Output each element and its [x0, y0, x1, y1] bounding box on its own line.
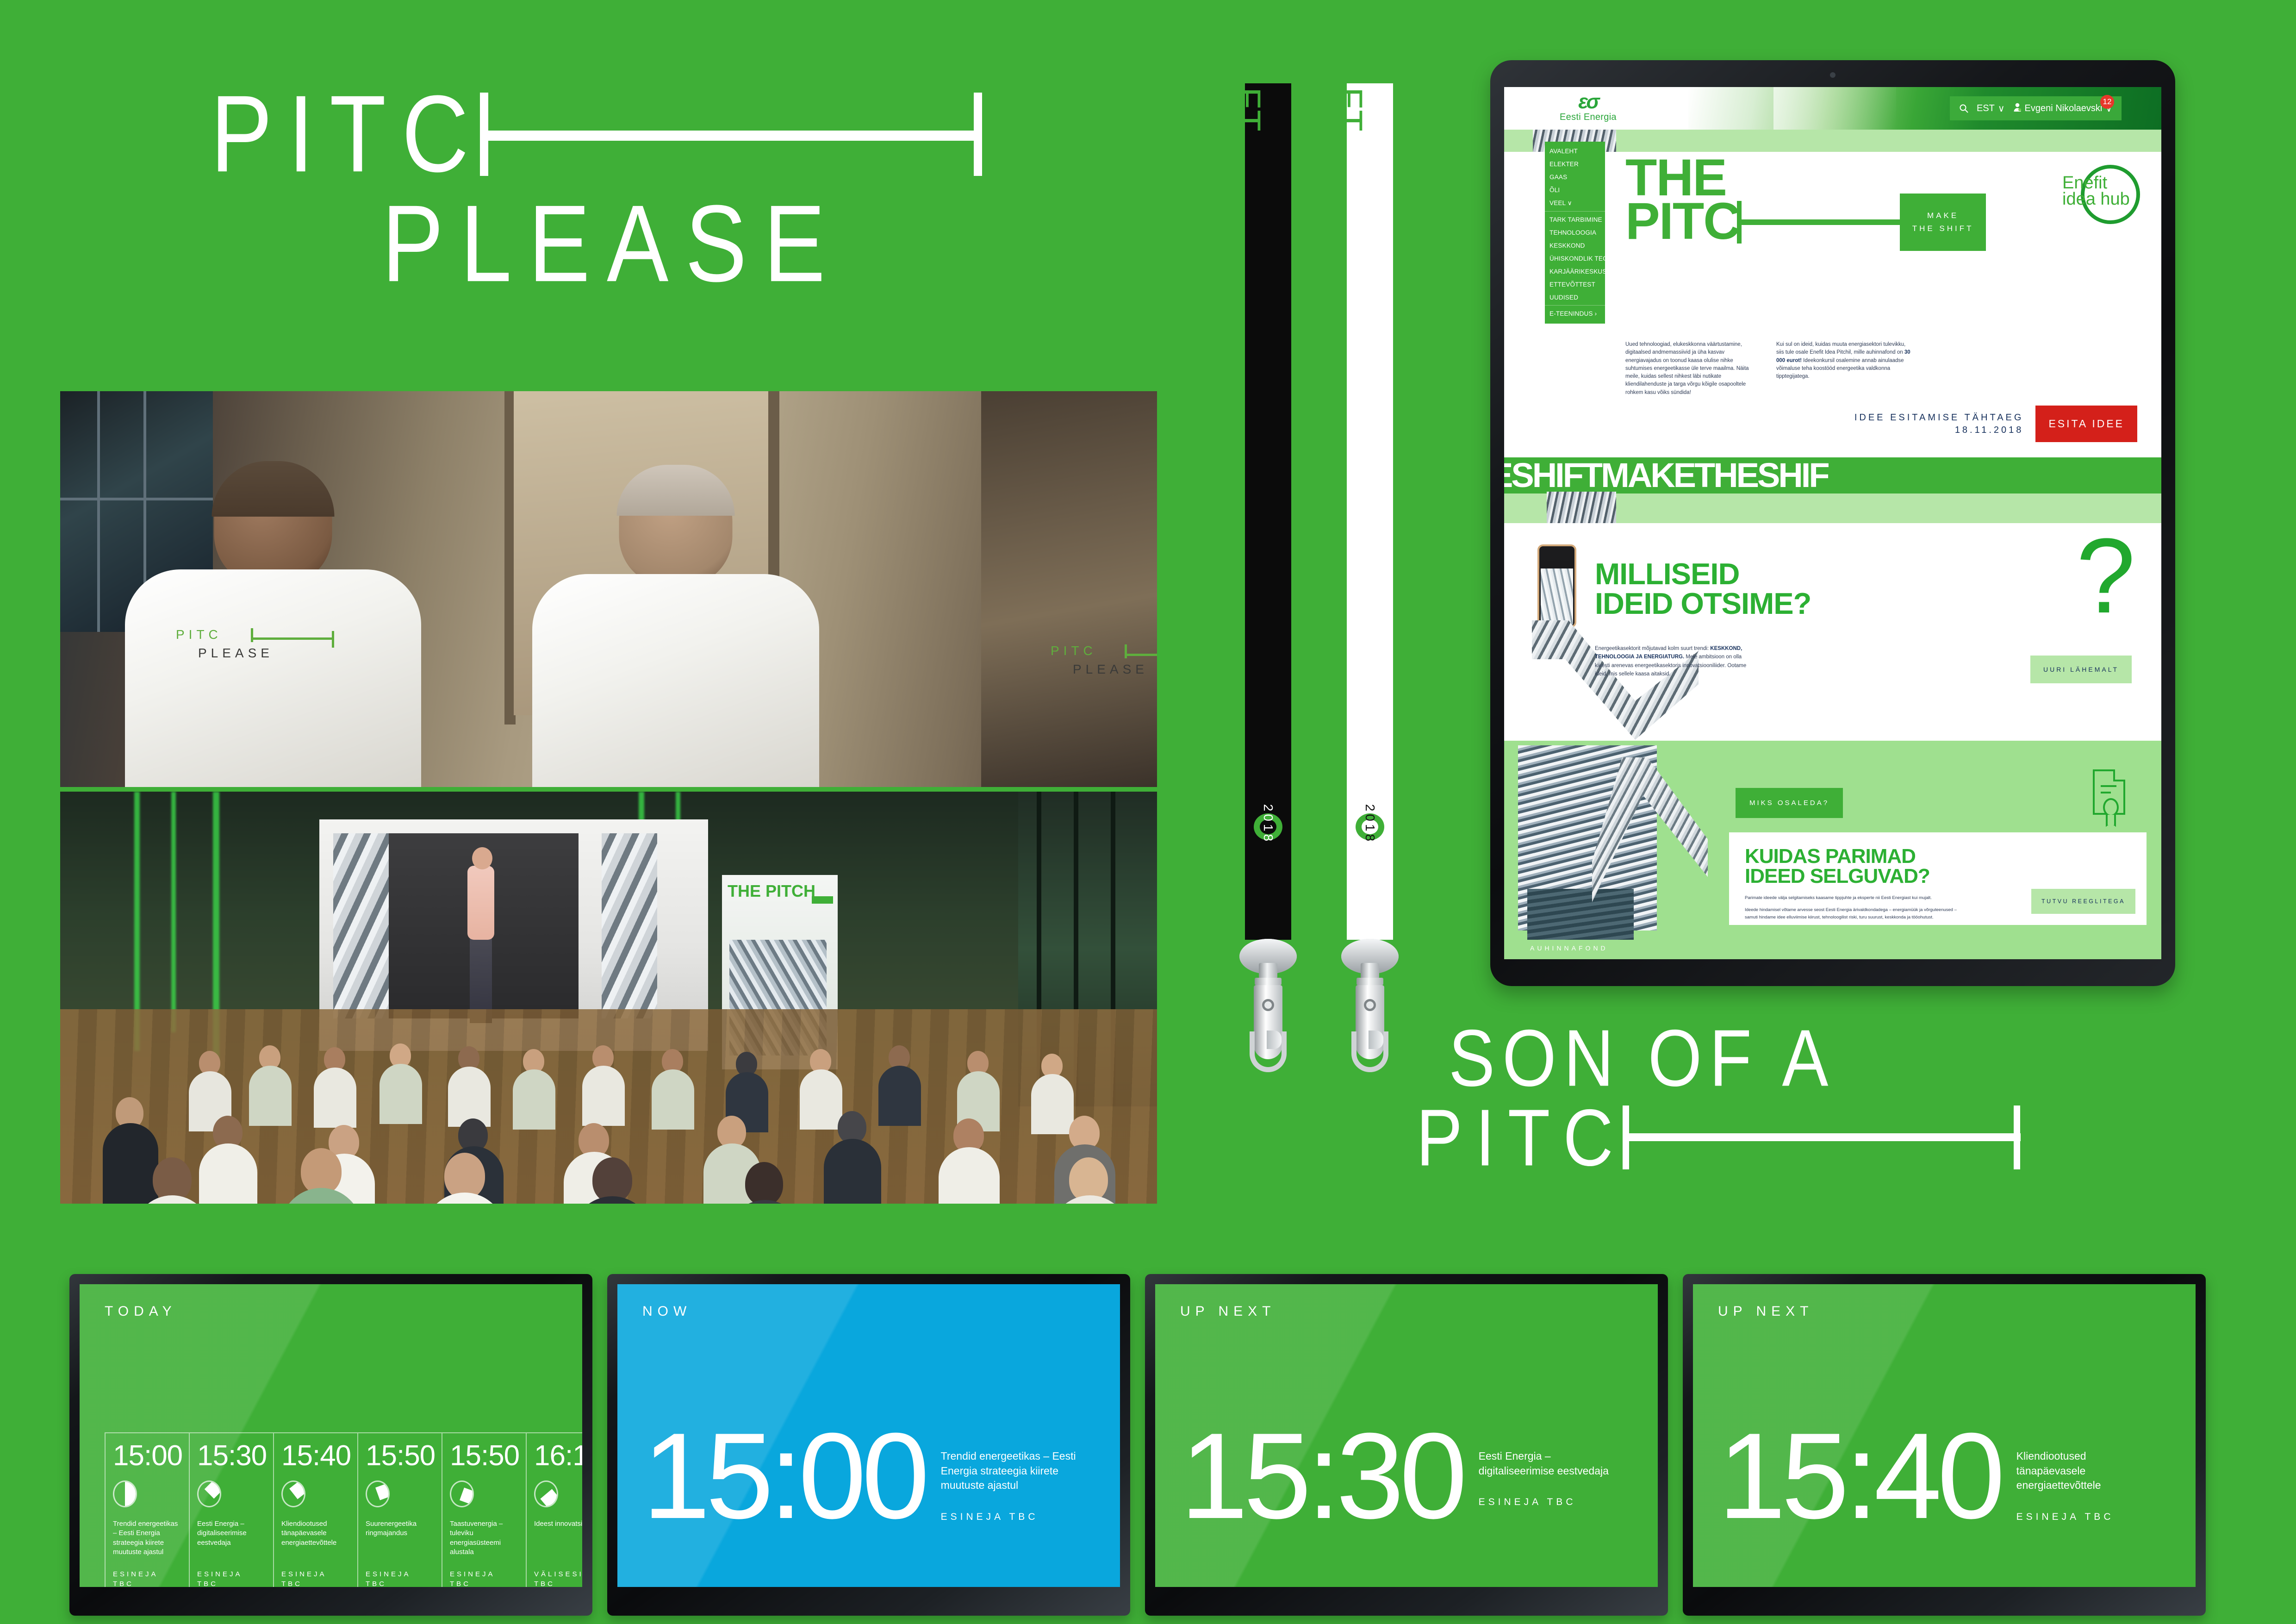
miks-osaleda-button[interactable]: MIKS OSALEDA?	[1736, 788, 1843, 818]
section3-heading: KUIDAS PARIMAD IDEED SELGUVAD?	[1745, 846, 2131, 886]
screen-today: TODAY 15:00 Trendid energeetikas – Eesti…	[69, 1274, 592, 1616]
nav-item-gaas[interactable]: GAAS	[1545, 170, 1605, 183]
screen-label: NOW	[642, 1304, 691, 1319]
session-speaker: ESINEJA TBC	[2016, 1512, 2155, 1523]
deadline-text: IDEE ESITAMISE TÄHTAEG 18.11.2018	[1854, 412, 2024, 437]
sop-line1: SON OF A	[1449, 1018, 2282, 1098]
user-menu[interactable]: Evgeni Nikolaevski ∨ 12	[2013, 102, 2113, 114]
nav-item-uhiskondlik-tegevus[interactable]: ÜHISKONDLIK TEGEVUS	[1545, 252, 1605, 265]
lanyard-white: MAKE THE SHIFT 2018	[1347, 83, 1393, 940]
nav-divider	[1545, 211, 1605, 212]
session-time: 15:40	[1718, 1423, 2001, 1528]
upnext-session: 15:40 Kliendiootused tänapäevasele energ…	[1718, 1423, 2155, 1528]
schedule-cell: 15:50 Taastuvenergia – tuleviku energias…	[442, 1433, 527, 1587]
upnext-session: 15:30 Eesti Energia – digitaliseerimise …	[1180, 1423, 1618, 1528]
tutvu-reeglitega-button[interactable]: TUTVU REEGLITEGA	[2031, 889, 2135, 914]
user-bar: EST ∨ Evgeni Nikolaevski ∨ 12	[1950, 96, 2122, 120]
lanyard-clip	[1233, 939, 1303, 1073]
schedule-cell: 15:40 Kliendiootused tänapäevasele energ…	[274, 1433, 358, 1587]
section2-paragraph: Energeetikasektorit mõjutavad kolm suurt…	[1595, 644, 1748, 679]
nav-item-uudised[interactable]: UUDISED	[1545, 291, 1605, 304]
camera-icon	[1830, 72, 1836, 78]
screen-label: UP NEXT	[1180, 1304, 1276, 1319]
hero-title: PITC PLEASE	[211, 88, 1136, 297]
hero-body-copy: Uued tehnoloogiad, elukeskkonna väärtust…	[1625, 341, 1912, 397]
session-title: Kliendiootused tänapäevasele energiaette…	[2016, 1449, 2155, 1493]
site-header: εσ Eesti Energia EST ∨ Evge	[1504, 87, 2161, 130]
uuri-lahemalt-button[interactable]: UURI LÄHEMALT	[2030, 656, 2132, 683]
nav-item-e-teenindus[interactable]: E-TEENINDUS ›	[1545, 307, 1605, 320]
progress-pie-icon	[281, 1480, 305, 1507]
screen-label: TODAY	[105, 1304, 177, 1319]
nav-item-keskkond[interactable]: KESKKOND	[1545, 239, 1605, 252]
section2-heading: MILLISEID IDEID OTSIME?	[1595, 559, 1811, 618]
signage-screens-row: TODAY 15:00 Trendid energeetikas – Eesti…	[69, 1274, 2206, 1616]
screen-up-next-2: UP NEXT 15:40 Kliendiootused tänapäevase…	[1683, 1274, 2206, 1616]
nav-item-elekter[interactable]: ELEKTER	[1545, 157, 1605, 170]
chevron-down-icon: ∨	[1998, 103, 2005, 114]
schedule-cell: 16:10 Ideest innovatsioonini VÄLISESINEJ…	[527, 1433, 582, 1587]
hero-title-line2: PLEASE	[382, 181, 1136, 306]
tshirt-print-left: PITC PLEASE	[176, 627, 274, 661]
screen-now: NOW 15:00 Trendid energeetikas – Eesti E…	[607, 1274, 1130, 1616]
auhinnafond-label: AUHINNAFOND	[1530, 944, 1608, 952]
lanyard-black: MAKE THE SHIFT 2018	[1245, 83, 1291, 940]
son-of-a-pitch-title: SON OF A PITC	[1449, 1023, 2282, 1172]
now-session: 15:00 Trendid energeetikas – Eesti Energ…	[642, 1423, 1080, 1528]
search-icon[interactable]	[1959, 104, 1968, 113]
tshirt-print-right: PITC PLEASE	[1051, 643, 1148, 677]
progress-pie-icon	[366, 1480, 390, 1507]
session-title: Eesti Energia – digitaliseerimise eestve…	[1479, 1449, 1618, 1478]
nav-item-ettevottest[interactable]: ETTEVÕTTEST	[1545, 278, 1605, 291]
section-which-ideas: ? MILLISEID IDEID OTSIME? Energeetikasek…	[1504, 523, 2161, 741]
tablet-device: εσ Eesti Energia EST ∨ Evge	[1490, 60, 2175, 986]
photo-auditorium: THE PITCH	[60, 792, 1157, 1204]
nav-item-oli[interactable]: ÕLI	[1545, 183, 1605, 196]
schedule-cell: 15:30 Eesti Energia – digitaliseerimise …	[190, 1433, 274, 1587]
hero-paragraph-2: Kui sul on ideid, kuidas muuta energiase…	[1776, 341, 1911, 397]
screen-label: UP NEXT	[1718, 1304, 1813, 1319]
hero-pitch-text: PITC	[211, 80, 485, 189]
site-hero: THE PITC MAKE THE SHIFT Enefit	[1625, 156, 2161, 244]
schedule-grid: 15:00 Trendid energeetikas – Eesti Energ…	[105, 1432, 582, 1587]
progress-pie-icon	[197, 1480, 221, 1507]
section3-card: KUIDAS PARIMAD IDEED SELGUVAD? Parimate …	[1729, 832, 2147, 925]
progress-pie-icon	[450, 1480, 474, 1507]
nav-item-veel[interactable]: VEEL ∨	[1545, 196, 1605, 210]
esita-idee-button[interactable]: ESITA IDEE	[2035, 406, 2137, 442]
light-band	[1504, 493, 2161, 523]
question-mark-graphic: ?	[2076, 531, 2135, 621]
section3-paragraph-1: Parimate ideede välja selgitamiseks kaas…	[1745, 894, 1961, 902]
tablet-screen: εσ Eesti Energia EST ∨ Evge	[1504, 87, 2161, 959]
nav-item-tehnoloogia[interactable]: TEHNOLOOGIA	[1545, 226, 1605, 239]
poster-canvas: PITC PLEASE PITC	[0, 0, 2296, 1624]
phone-mockup	[1537, 544, 1576, 628]
hero-pitch: PITC	[1625, 200, 1740, 243]
lanyard-clip	[1335, 939, 1405, 1073]
shift-marquee-band: ESHIFTMAKETHESHIF	[1504, 457, 2161, 493]
user-avatar-icon	[2013, 102, 2022, 114]
nav-item-avaleht[interactable]: AVALEHT	[1545, 144, 1605, 157]
deadline-row: IDEE ESITAMISE TÄHTAEG 18.11.2018 ESITA …	[1854, 406, 2137, 442]
progress-pie-icon	[534, 1480, 558, 1507]
session-time: 15:30	[1180, 1423, 1463, 1528]
nav-divider	[1545, 305, 1605, 306]
session-speaker: ESINEJA TBC	[941, 1512, 1080, 1523]
person-right: PITC PLEASE	[532, 468, 819, 787]
make-the-shift-badge: MAKE THE SHIFT	[1900, 194, 1986, 251]
sop-h-glyph	[1623, 1103, 2021, 1172]
hero-h-glyph	[480, 88, 984, 181]
eesti-energia-mark-icon: εσ	[1560, 93, 1617, 111]
certificate-icon	[2093, 769, 2125, 815]
hero-h-glyph: MAKE THE SHIFT	[1737, 200, 2033, 244]
session-title: Trendid energeetikas – Eesti Energia str…	[941, 1449, 1080, 1493]
photo-tshirts-back: PITC PLEASE PITC PLEASE	[60, 391, 1157, 787]
nav-item-karjaarikeskus[interactable]: KARJÄÄRIKESKUS	[1545, 265, 1605, 278]
progress-pie-icon	[113, 1480, 137, 1507]
enefit-idea-hub-logo: Enefit idea hub	[2062, 161, 2140, 231]
section3-paragraph-2: Ideede hindamisel võtame arvesse seost E…	[1745, 906, 1961, 921]
site-sidebar-nav: AVALEHT ELEKTER GAAS ÕLI VEEL ∨ TARK TAR…	[1545, 142, 1605, 324]
sop-line2: PITC	[1416, 1103, 2282, 1172]
person-left: PITC PLEASE	[125, 463, 421, 787]
section-how-ideas-chosen: MIKS OSALEDA? KUIDAS PARIMAD IDEED SELGU…	[1504, 741, 2161, 959]
hero-title-line1: PITC	[211, 88, 1136, 181]
nav-item-tark-tarbimine[interactable]: TARK TARBIMINE	[1545, 213, 1605, 226]
eesti-energia-logo[interactable]: εσ Eesti Energia	[1560, 93, 1617, 123]
screen-up-next-1: UP NEXT 15:30 Eesti Energia – digitalise…	[1145, 1274, 1668, 1616]
language-selector[interactable]: EST ∨	[1977, 103, 2005, 114]
notification-badge[interactable]: 12	[2100, 95, 2114, 109]
session-speaker: ESINEJA TBC	[1479, 1497, 1618, 1508]
schedule-cell: 15:00 Trendid energeetikas – Eesti Energ…	[106, 1433, 190, 1587]
session-time: 15:00	[642, 1423, 925, 1528]
schedule-cell: 15:50 Suurenergeetika ringmajandus ESINE…	[358, 1433, 442, 1587]
hero-paragraph-1: Uued tehnoloogiad, elukeskkonna väärtust…	[1625, 341, 1761, 397]
